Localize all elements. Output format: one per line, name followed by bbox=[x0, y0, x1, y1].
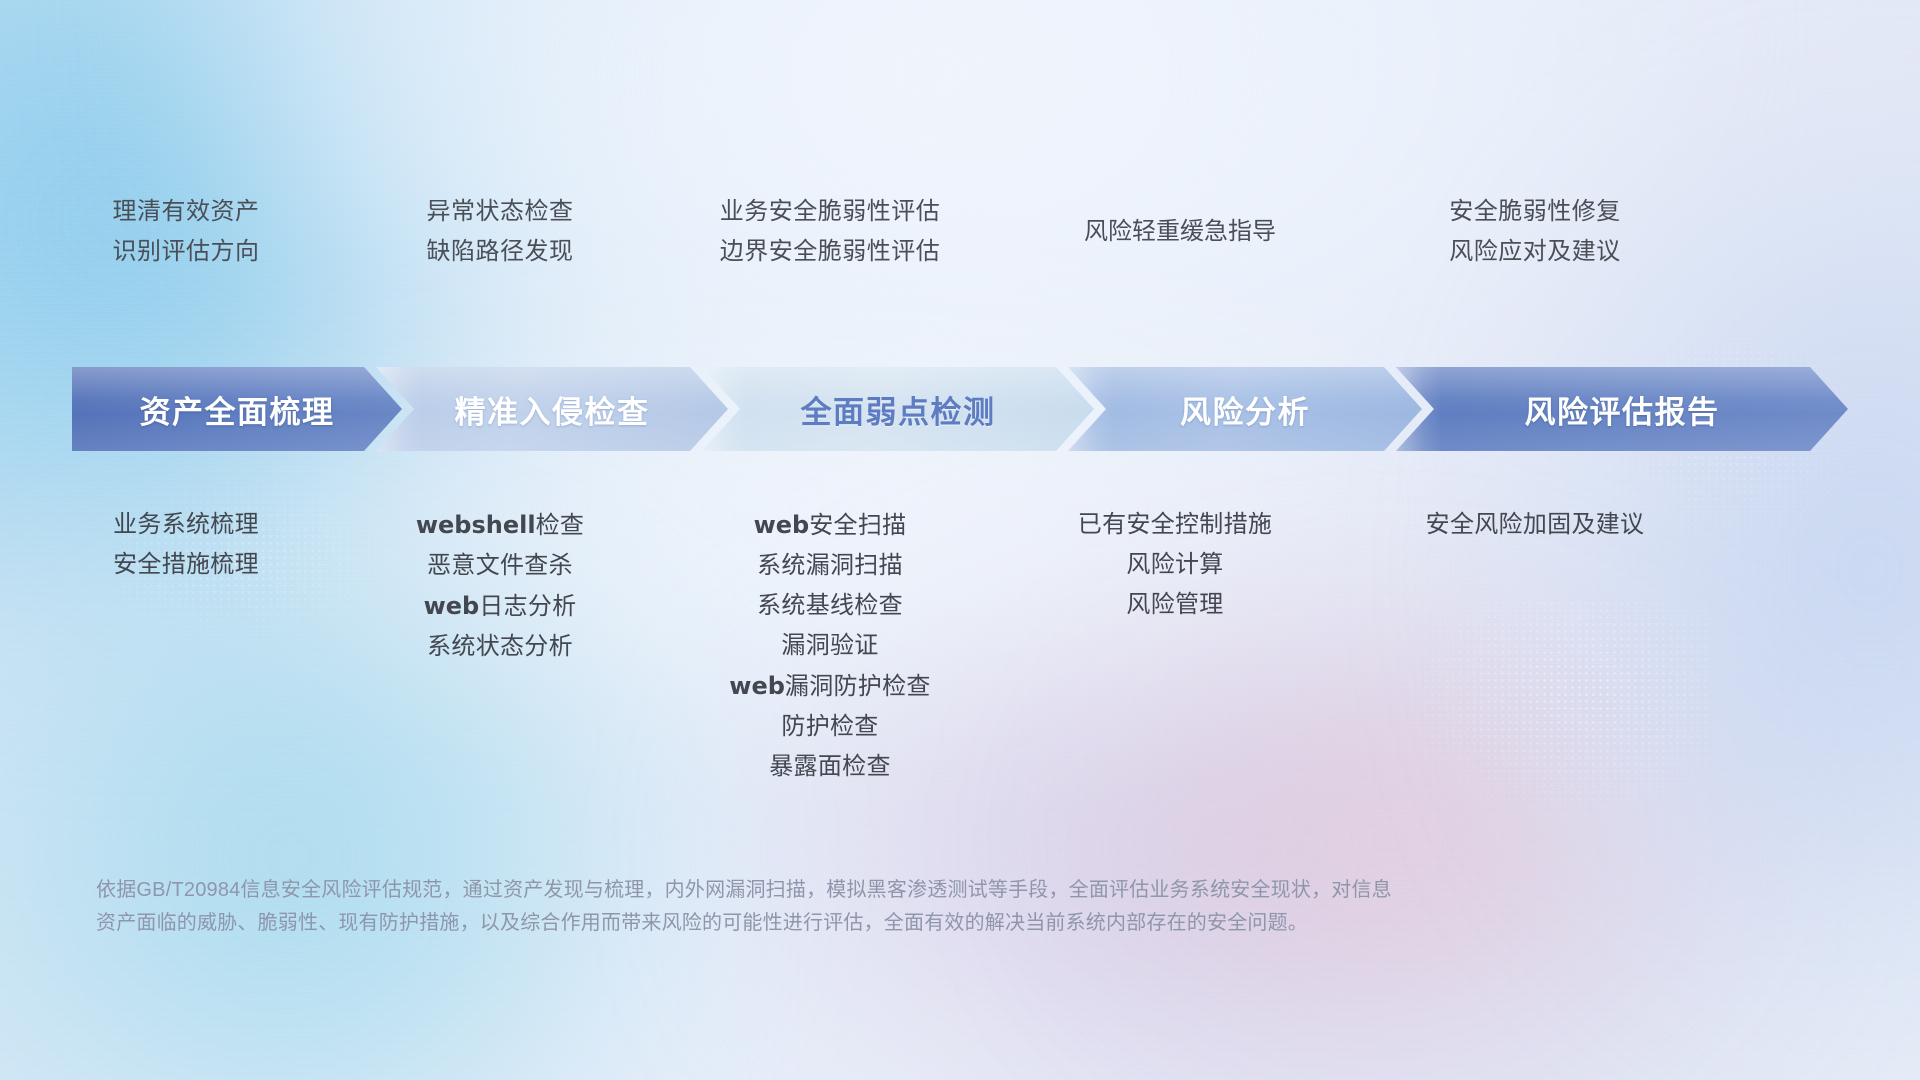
top-note-risk-report-2: 风险应对及建议 bbox=[1380, 232, 1690, 272]
footer-description: 依据GB/T20984信息安全风险评估规范，通过资产发现与梳理，内外网漏洞扫描，… bbox=[96, 874, 1416, 940]
list-item: 系统状态分析 bbox=[350, 627, 650, 667]
list-item: 安全风险加固及建议 bbox=[1380, 505, 1690, 545]
process-step-label: 精准入侵检查 bbox=[455, 387, 650, 432]
list-item: webshell检查 bbox=[350, 505, 650, 546]
list-item: 安全措施梳理 bbox=[36, 545, 336, 585]
list-item: 暴露面检查 bbox=[660, 747, 1000, 787]
top-note-intrusion-check-1: 异常状态检查 bbox=[350, 192, 650, 232]
list-item: 业务系统梳理 bbox=[36, 505, 336, 545]
process-step-label: 资产全面梳理 bbox=[140, 387, 335, 432]
top-note-risk-report-1: 安全脆弱性修复 bbox=[1380, 192, 1690, 232]
process-step-risk-report[interactable]: 风险评估报告 bbox=[1396, 367, 1848, 451]
list-item: web漏洞防护检查 bbox=[660, 666, 1000, 707]
bottom-list-intrusion-check: webshell检查 恶意文件查杀 web日志分析 系统状态分析 bbox=[350, 505, 650, 787]
list-item: 恶意文件查杀 bbox=[350, 546, 650, 586]
list-item: web日志分析 bbox=[350, 586, 650, 627]
top-note-asset-inventory-2: 识别评估方向 bbox=[36, 232, 336, 272]
top-note-risk-analysis-1: 风险轻重缓急指导 bbox=[1035, 212, 1325, 252]
process-step-label: 风险评估报告 bbox=[1525, 387, 1720, 432]
top-note-weakness-detection-1: 业务安全脆弱性评估 bbox=[660, 192, 1000, 232]
process-step-intrusion-check[interactable]: 精准入侵检查 bbox=[376, 367, 728, 451]
process-step-label: 风险分析 bbox=[1180, 387, 1310, 432]
list-item: 漏洞验证 bbox=[660, 626, 1000, 666]
footer-line-2: 资产面临的威胁、脆弱性、现有防护措施，以及综合作用而带来风险的可能性进行评估，全… bbox=[96, 907, 1416, 940]
process-step-label: 全面弱点检测 bbox=[801, 387, 996, 432]
list-item: 防护检查 bbox=[660, 707, 1000, 747]
list-item: 已有安全控制措施 bbox=[1030, 505, 1320, 545]
top-note-asset-inventory-1: 理清有效资产 bbox=[36, 192, 336, 232]
bottom-list-asset-inventory: 业务系统梳理 安全措施梳理 bbox=[36, 505, 336, 787]
top-note-weakness-detection-2: 边界安全脆弱性评估 bbox=[660, 232, 1000, 272]
bottom-list-risk-analysis: 已有安全控制措施 风险计算 风险管理 bbox=[1030, 505, 1320, 787]
process-diagram: 理清有效资产 异常状态检查 业务安全脆弱性评估 安全脆弱性修复 识别评估方向 缺… bbox=[0, 0, 1920, 1080]
list-item: 系统漏洞扫描 bbox=[660, 546, 1000, 586]
bottom-notes-lists: 业务系统梳理 安全措施梳理 webshell检查 恶意文件查杀 web日志分析 … bbox=[0, 505, 1920, 787]
list-item: 风险管理 bbox=[1030, 585, 1320, 625]
bottom-list-risk-report: 安全风险加固及建议 bbox=[1380, 505, 1690, 787]
list-item: 系统基线检查 bbox=[660, 586, 1000, 626]
process-step-asset-inventory[interactable]: 资产全面梳理 bbox=[72, 367, 402, 451]
footer-line-1: 依据GB/T20984信息安全风险评估规范，通过资产发现与梳理，内外网漏洞扫描，… bbox=[96, 874, 1416, 907]
top-notes-row-2: 识别评估方向 缺陷路径发现 边界安全脆弱性评估 风险应对及建议 bbox=[0, 232, 1920, 272]
process-step-weakness-detection[interactable]: 全面弱点检测 bbox=[702, 367, 1094, 451]
top-notes-row-1: 理清有效资产 异常状态检查 业务安全脆弱性评估 安全脆弱性修复 bbox=[0, 192, 1920, 232]
list-item: 风险计算 bbox=[1030, 545, 1320, 585]
process-step-risk-analysis[interactable]: 风险分析 bbox=[1068, 367, 1422, 451]
process-arrow-band: 资产全面梳理 精准入侵检查 全面弱点检测 风险分析 风险评估报告 bbox=[72, 367, 1848, 451]
list-item: web安全扫描 bbox=[660, 505, 1000, 546]
bottom-list-weakness-detection: web安全扫描 系统漏洞扫描 系统基线检查 漏洞验证 web漏洞防护检查 防护检… bbox=[660, 505, 1000, 787]
top-note-intrusion-check-2: 缺陷路径发现 bbox=[350, 232, 650, 272]
